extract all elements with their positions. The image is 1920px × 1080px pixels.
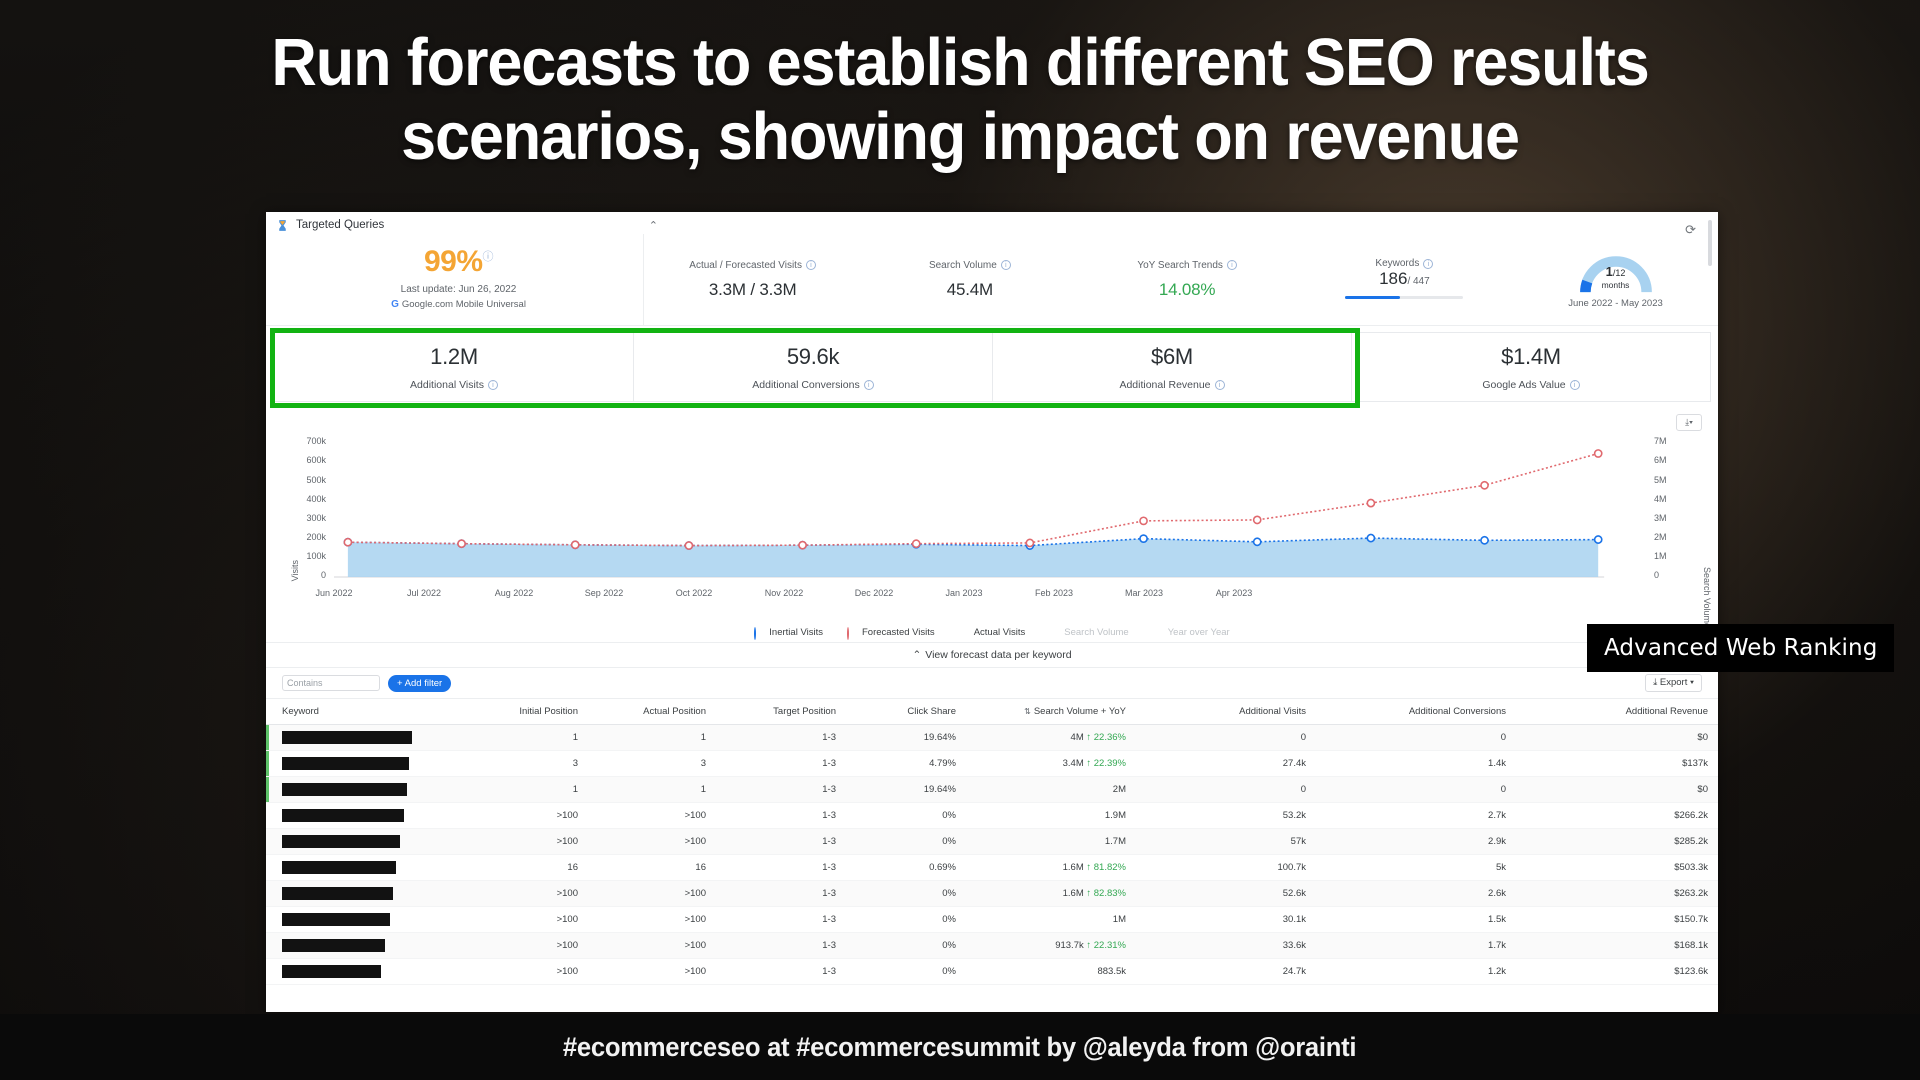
metric-keywords: Keywords i 186/ 447 bbox=[1296, 258, 1513, 301]
table-row[interactable]: 111-319.64%4M ↑ 22.36%00$0 bbox=[266, 725, 1718, 751]
info-icon[interactable]: i bbox=[1227, 260, 1237, 270]
cell-target-position: 1-3 bbox=[716, 933, 846, 959]
y-tick: 200k bbox=[292, 532, 326, 542]
cell-additional-conversions: 1.2k bbox=[1316, 959, 1516, 985]
cell-actual-position: >100 bbox=[588, 881, 716, 907]
info-icon[interactable]: i bbox=[488, 380, 498, 390]
cell-additional-revenue: $168.1k bbox=[1516, 933, 1718, 959]
kpi-google-ads-value[interactable]: $1.4M Google Ads Valuei bbox=[1351, 332, 1711, 402]
table-row[interactable]: >100>1001-30%883.5k24.7k1.2k$123.6k bbox=[266, 959, 1718, 985]
cell-search-volume-yoy: 2M bbox=[966, 777, 1136, 803]
redacted-keyword bbox=[282, 835, 400, 848]
table-row[interactable]: >100>1001-30%1.9M53.2k2.7k$266.2k bbox=[266, 803, 1718, 829]
cell-click-share: 0% bbox=[846, 907, 966, 933]
cell-additional-conversions: 2.6k bbox=[1316, 881, 1516, 907]
column-additional-revenue[interactable]: Additional Revenue bbox=[1516, 699, 1718, 725]
keywords-table: Keyword Initial Position Actual Position… bbox=[266, 698, 1718, 985]
cell-initial-position: 16 bbox=[466, 855, 588, 881]
legend-item-year-over-year[interactable]: Year over Year bbox=[1153, 627, 1230, 638]
kpi-value: 1.2M bbox=[430, 344, 478, 370]
x-tick: Nov 2022 bbox=[744, 588, 824, 598]
cell-keyword bbox=[266, 881, 466, 907]
column-keyword[interactable]: Keyword bbox=[266, 699, 466, 725]
redacted-keyword bbox=[282, 965, 381, 978]
chevron-up-icon: ⌃ bbox=[912, 649, 921, 661]
cell-actual-position: >100 bbox=[588, 907, 716, 933]
metric-value: 14.08% bbox=[1079, 280, 1296, 300]
cell-initial-position: 1 bbox=[466, 777, 588, 803]
cell-additional-revenue: $266.2k bbox=[1516, 803, 1718, 829]
metric-value: 45.4M bbox=[861, 280, 1078, 300]
x-tick: Aug 2022 bbox=[474, 588, 554, 598]
kpi-additional-conversions[interactable]: 59.6k Additional Conversionsi bbox=[633, 332, 993, 402]
cell-additional-visits: 24.7k bbox=[1136, 959, 1316, 985]
y2-tick: 3M bbox=[1654, 513, 1688, 523]
accuracy-block: 99%ⓘ Last update: Jun 26, 2022 G Google.… bbox=[274, 234, 644, 325]
column-additional-visits[interactable]: Additional Visits bbox=[1136, 699, 1316, 725]
kpi-value: $6M bbox=[1151, 344, 1193, 370]
cell-actual-position: >100 bbox=[588, 803, 716, 829]
metric-label: Actual / Forecasted Visits i bbox=[644, 260, 861, 271]
cell-search-volume-yoy: 1.7M bbox=[966, 829, 1136, 855]
cell-target-position: 1-3 bbox=[716, 881, 846, 907]
cell-additional-visits: 0 bbox=[1136, 725, 1316, 751]
cell-keyword bbox=[266, 803, 466, 829]
app-header: Targeted Queries ⌃ ⟳ bbox=[266, 212, 1718, 234]
legend-item-forecasted-visits[interactable]: Forecasted Visits bbox=[847, 627, 935, 638]
y-tick: 700k bbox=[292, 436, 326, 446]
cell-initial-position: >100 bbox=[466, 829, 588, 855]
cell-initial-position: 3 bbox=[466, 751, 588, 777]
cell-target-position: 1-3 bbox=[716, 751, 846, 777]
awr-forecast-app: Targeted Queries ⌃ ⟳ 99%ⓘ Last update: J… bbox=[266, 212, 1718, 1012]
circle-marker-icon bbox=[754, 628, 764, 638]
keywords-value: 186/ 447 bbox=[1296, 269, 1513, 289]
cell-additional-revenue: $263.2k bbox=[1516, 881, 1718, 907]
cell-additional-visits: 27.4k bbox=[1136, 751, 1316, 777]
cell-additional-conversions: 0 bbox=[1316, 777, 1516, 803]
info-icon[interactable]: i bbox=[864, 380, 874, 390]
cell-actual-position: 1 bbox=[588, 777, 716, 803]
gauge-value: 1/12 bbox=[1606, 264, 1626, 279]
square-marker-icon bbox=[1153, 628, 1163, 638]
cell-additional-revenue: $137k bbox=[1516, 751, 1718, 777]
cell-additional-conversions: 5k bbox=[1316, 855, 1516, 881]
cell-additional-visits: 0 bbox=[1136, 777, 1316, 803]
cell-target-position: 1-3 bbox=[716, 777, 846, 803]
chart-download-button[interactable]: ⤓▾ bbox=[1676, 414, 1702, 431]
summary-strip: 99%ⓘ Last update: Jun 26, 2022 G Google.… bbox=[266, 234, 1718, 326]
x-tick: Feb 2023 bbox=[1014, 588, 1094, 598]
circle-marker-icon bbox=[847, 628, 857, 638]
google-icon: G bbox=[391, 299, 399, 310]
cell-additional-revenue: $285.2k bbox=[1516, 829, 1718, 855]
hourglass-icon bbox=[276, 219, 289, 232]
chart-plot-area bbox=[334, 438, 1624, 583]
y2-tick: 6M bbox=[1654, 455, 1688, 465]
cell-click-share: 0% bbox=[846, 881, 966, 907]
y-tick: 100k bbox=[292, 551, 326, 561]
redacted-keyword bbox=[282, 939, 385, 952]
cell-actual-position: 3 bbox=[588, 751, 716, 777]
column-additional-conversions[interactable]: Additional Conversions bbox=[1316, 699, 1516, 725]
cell-keyword bbox=[266, 933, 466, 959]
metric-label: Search Volume i bbox=[861, 260, 1078, 271]
kpi-row: 1.2M Additional Visitsi 59.6k Additional… bbox=[266, 326, 1718, 410]
scrollbar-thumb[interactable] bbox=[1708, 220, 1712, 266]
cell-initial-position: >100 bbox=[466, 881, 588, 907]
cell-search-volume-yoy: 883.5k bbox=[966, 959, 1136, 985]
cell-additional-revenue: $503.3k bbox=[1516, 855, 1718, 881]
awr-watermark: Advanced Web Ranking bbox=[1587, 624, 1894, 672]
x-tick: Mar 2023 bbox=[1104, 588, 1184, 598]
cell-click-share: 0% bbox=[846, 829, 966, 855]
cell-additional-revenue: $123.6k bbox=[1516, 959, 1718, 985]
x-tick: Oct 2022 bbox=[654, 588, 734, 598]
forecast-chart: ⤓▾ Visits Search Volume 700k 600k 500k 4… bbox=[266, 410, 1718, 642]
legend-item-inertial-visits[interactable]: Inertial Visits bbox=[754, 627, 823, 638]
cell-target-position: 1-3 bbox=[716, 803, 846, 829]
cell-additional-conversions: 0 bbox=[1316, 725, 1516, 751]
cell-keyword bbox=[266, 959, 466, 985]
slide-title: Run forecasts to establish different SEO… bbox=[0, 26, 1920, 174]
metric-value: 3.3M / 3.3M bbox=[644, 280, 861, 300]
cell-click-share: 0% bbox=[846, 803, 966, 829]
cell-initial-position: >100 bbox=[466, 803, 588, 829]
app-header-title: Targeted Queries bbox=[296, 219, 384, 231]
cell-search-volume-yoy: 1.6M ↑ 82.83% bbox=[966, 881, 1136, 907]
cell-additional-visits: 57k bbox=[1136, 829, 1316, 855]
row-flag-bar bbox=[266, 725, 269, 750]
cell-target-position: 1-3 bbox=[716, 907, 846, 933]
cell-click-share: 19.64% bbox=[846, 725, 966, 751]
view-forecast-toggle[interactable]: ⌃ View forecast data per keyword bbox=[266, 642, 1718, 668]
slide-title-line-2: scenarios, showing impact on revenue bbox=[58, 100, 1863, 174]
cell-actual-position: >100 bbox=[588, 933, 716, 959]
y2-tick: 0 bbox=[1654, 570, 1688, 580]
x-tick: Sep 2022 bbox=[564, 588, 644, 598]
add-filter-button[interactable]: + Add filter bbox=[388, 675, 451, 692]
cell-click-share: 0% bbox=[846, 959, 966, 985]
cell-actual-position: >100 bbox=[588, 959, 716, 985]
table-header-row: Keyword Initial Position Actual Position… bbox=[266, 699, 1718, 725]
cell-search-volume-yoy: 913.7k ↑ 22.31% bbox=[966, 933, 1136, 959]
cell-search-volume-yoy: 1.6M ↑ 81.82% bbox=[966, 855, 1136, 881]
cell-target-position: 1-3 bbox=[716, 725, 846, 751]
last-update-text: Last update: Jun 26, 2022 bbox=[401, 284, 517, 295]
cell-initial-position: 1 bbox=[466, 725, 588, 751]
legend-item-search-volume[interactable]: Search Volume bbox=[1049, 627, 1128, 638]
collapse-chevron-icon[interactable]: ⌃ bbox=[649, 219, 658, 232]
x-tick: Apr 2023 bbox=[1194, 588, 1274, 598]
search-engine-text: G Google.com Mobile Universal bbox=[391, 299, 526, 310]
cell-initial-position: >100 bbox=[466, 907, 588, 933]
kpi-label: Additional Visitsi bbox=[410, 379, 498, 391]
kpi-value: $1.4M bbox=[1501, 344, 1561, 370]
square-marker-icon bbox=[1049, 628, 1059, 638]
info-icon[interactable]: i bbox=[1215, 380, 1225, 390]
column-actual-position[interactable]: Actual Position bbox=[588, 699, 716, 725]
cell-additional-visits: 100.7k bbox=[1136, 855, 1316, 881]
table-row[interactable]: >100>1001-30%1.6M ↑ 82.83%52.6k2.6k$263.… bbox=[266, 881, 1718, 907]
table-filter-bar: Contains + Add filter ⤓ Export ▾ bbox=[266, 668, 1718, 698]
y-tick: 400k bbox=[292, 494, 326, 504]
export-button[interactable]: ⤓ Export ▾ bbox=[1645, 674, 1702, 692]
cell-click-share: 4.79% bbox=[846, 751, 966, 777]
kpi-value: 59.6k bbox=[787, 344, 839, 370]
row-flag-bar bbox=[266, 751, 269, 776]
cell-search-volume-yoy: 1.9M bbox=[966, 803, 1136, 829]
cell-target-position: 1-3 bbox=[716, 855, 846, 881]
chart-legend: Inertial Visits Forecasted Visits Actual… bbox=[266, 627, 1718, 638]
cell-additional-conversions: 1.4k bbox=[1316, 751, 1516, 777]
kpi-label: Additional Revenuei bbox=[1119, 379, 1224, 391]
kpi-label: Additional Conversionsi bbox=[752, 379, 873, 391]
cell-additional-conversions: 2.7k bbox=[1316, 803, 1516, 829]
cell-initial-position: >100 bbox=[466, 959, 588, 985]
accuracy-percent: 99%ⓘ bbox=[424, 247, 493, 277]
info-icon[interactable]: i bbox=[1570, 380, 1580, 390]
cell-search-volume-yoy: 3.4M ↑ 22.39% bbox=[966, 751, 1136, 777]
x-tick: Jan 2023 bbox=[924, 588, 1004, 598]
cell-keyword bbox=[266, 777, 466, 803]
column-search-volume-yoy[interactable]: ⇅Search Volume + YoY bbox=[966, 699, 1136, 725]
metric-actual-forecasted-visits: Actual / Forecasted Visits i 3.3M / 3.3M bbox=[644, 260, 861, 300]
cell-additional-visits: 53.2k bbox=[1136, 803, 1316, 829]
info-icon[interactable]: i bbox=[806, 260, 816, 270]
y2-tick: 2M bbox=[1654, 532, 1688, 542]
row-flag-bar bbox=[266, 777, 269, 802]
cell-click-share: 0% bbox=[846, 933, 966, 959]
redacted-keyword bbox=[282, 887, 393, 900]
x-tick: Jun 2022 bbox=[294, 588, 374, 598]
column-initial-position[interactable]: Initial Position bbox=[466, 699, 588, 725]
y-tick: 500k bbox=[292, 475, 326, 485]
slide-title-line-1: Run forecasts to establish different SEO… bbox=[58, 26, 1863, 100]
slide-footer: #ecommerceseo at #ecommercesummit by @al… bbox=[0, 1014, 1920, 1080]
redacted-keyword bbox=[282, 731, 412, 744]
redacted-keyword bbox=[282, 809, 404, 822]
info-icon[interactable]: i bbox=[1423, 259, 1433, 269]
table-row[interactable]: >100>1001-30%1.7M57k2.9k$285.2k bbox=[266, 829, 1718, 855]
cell-target-position: 1-3 bbox=[716, 959, 846, 985]
legend-item-actual-visits[interactable]: Actual Visits bbox=[959, 627, 1026, 638]
y2-tick: 7M bbox=[1654, 436, 1688, 446]
metric-yoy-search-trends: YoY Search Trends i 14.08% bbox=[1079, 260, 1296, 300]
metric-label: YoY Search Trends i bbox=[1079, 260, 1296, 271]
table-row[interactable]: >100>1001-30%913.7k ↑ 22.31%33.6k1.7k$16… bbox=[266, 933, 1718, 959]
cell-additional-visits: 30.1k bbox=[1136, 907, 1316, 933]
cell-additional-visits: 33.6k bbox=[1136, 933, 1316, 959]
footer-text: #ecommerceseo at #ecommercesummit by @al… bbox=[563, 1032, 1356, 1063]
x-tick: Jul 2022 bbox=[384, 588, 464, 598]
cell-actual-position: >100 bbox=[588, 829, 716, 855]
table-row[interactable]: >100>1001-30%1M30.1k1.5k$150.7k bbox=[266, 907, 1718, 933]
cell-initial-position: >100 bbox=[466, 933, 588, 959]
y2-tick: 5M bbox=[1654, 475, 1688, 485]
kpi-label: Google Ads Valuei bbox=[1482, 379, 1579, 391]
cell-keyword bbox=[266, 751, 466, 777]
chart-y2-axis-label: Search Volume bbox=[1702, 567, 1712, 628]
gauge-unit: months bbox=[1602, 280, 1630, 290]
y-tick: 0 bbox=[292, 570, 326, 580]
metric-search-volume: Search Volume i 45.4M bbox=[861, 260, 1078, 300]
cell-click-share: 19.64% bbox=[846, 777, 966, 803]
column-target-position[interactable]: Target Position bbox=[716, 699, 846, 725]
redacted-keyword bbox=[282, 913, 390, 926]
cell-additional-conversions: 1.5k bbox=[1316, 907, 1516, 933]
y-tick: 600k bbox=[292, 455, 326, 465]
y2-tick: 4M bbox=[1654, 494, 1688, 504]
x-tick: Dec 2022 bbox=[834, 588, 914, 598]
table-body: 111-319.64%4M ↑ 22.36%00$0331-34.79%3.4M… bbox=[266, 725, 1718, 985]
cell-search-volume-yoy: 1M bbox=[966, 907, 1136, 933]
metric-label: Keywords i bbox=[1296, 258, 1513, 269]
cell-actual-position: 1 bbox=[588, 725, 716, 751]
table-row[interactable]: 111-319.64%2M00$0 bbox=[266, 777, 1718, 803]
column-click-share[interactable]: Click Share bbox=[846, 699, 966, 725]
gauge-date-range: June 2022 - May 2023 bbox=[1568, 298, 1663, 309]
cell-additional-revenue: $0 bbox=[1516, 725, 1718, 751]
refresh-icon[interactable]: ⟳ bbox=[1685, 222, 1696, 238]
cell-additional-visits: 52.6k bbox=[1136, 881, 1316, 907]
cell-keyword bbox=[266, 907, 466, 933]
cell-keyword bbox=[266, 855, 466, 881]
months-gauge: 1/12 months June 2022 - May 2023 bbox=[1513, 234, 1718, 325]
table-row[interactable]: 16161-30.69%1.6M ↑ 81.82%100.7k5k$503.3k bbox=[266, 855, 1718, 881]
accuracy-info-icon[interactable]: ⓘ bbox=[483, 251, 494, 263]
line-marker-icon bbox=[959, 628, 969, 638]
redacted-keyword bbox=[282, 757, 409, 770]
kpi-additional-visits[interactable]: 1.2M Additional Visitsi bbox=[274, 332, 634, 402]
cell-search-volume-yoy: 4M ↑ 22.36% bbox=[966, 725, 1136, 751]
info-icon[interactable]: i bbox=[1001, 260, 1011, 270]
table-row[interactable]: 331-34.79%3.4M ↑ 22.39%27.4k1.4k$137k bbox=[266, 751, 1718, 777]
cell-additional-conversions: 1.7k bbox=[1316, 933, 1516, 959]
sort-arrow-icon: ⇅ bbox=[1024, 707, 1031, 716]
y-tick: 300k bbox=[292, 513, 326, 523]
cell-additional-revenue: $150.7k bbox=[1516, 907, 1718, 933]
keywords-progress-bar bbox=[1345, 296, 1463, 299]
redacted-keyword bbox=[282, 783, 407, 796]
summary-metrics: Actual / Forecasted Visits i 3.3M / 3.3M… bbox=[644, 234, 1513, 325]
cell-additional-revenue: $0 bbox=[1516, 777, 1718, 803]
cell-additional-conversions: 2.9k bbox=[1316, 829, 1516, 855]
cell-keyword bbox=[266, 725, 466, 751]
cell-click-share: 0.69% bbox=[846, 855, 966, 881]
cell-keyword bbox=[266, 829, 466, 855]
kpi-additional-revenue[interactable]: $6M Additional Revenuei bbox=[992, 332, 1352, 402]
redacted-keyword bbox=[282, 861, 396, 874]
contains-input[interactable]: Contains bbox=[282, 675, 380, 691]
y2-tick: 1M bbox=[1654, 551, 1688, 561]
cell-target-position: 1-3 bbox=[716, 829, 846, 855]
cell-actual-position: 16 bbox=[588, 855, 716, 881]
